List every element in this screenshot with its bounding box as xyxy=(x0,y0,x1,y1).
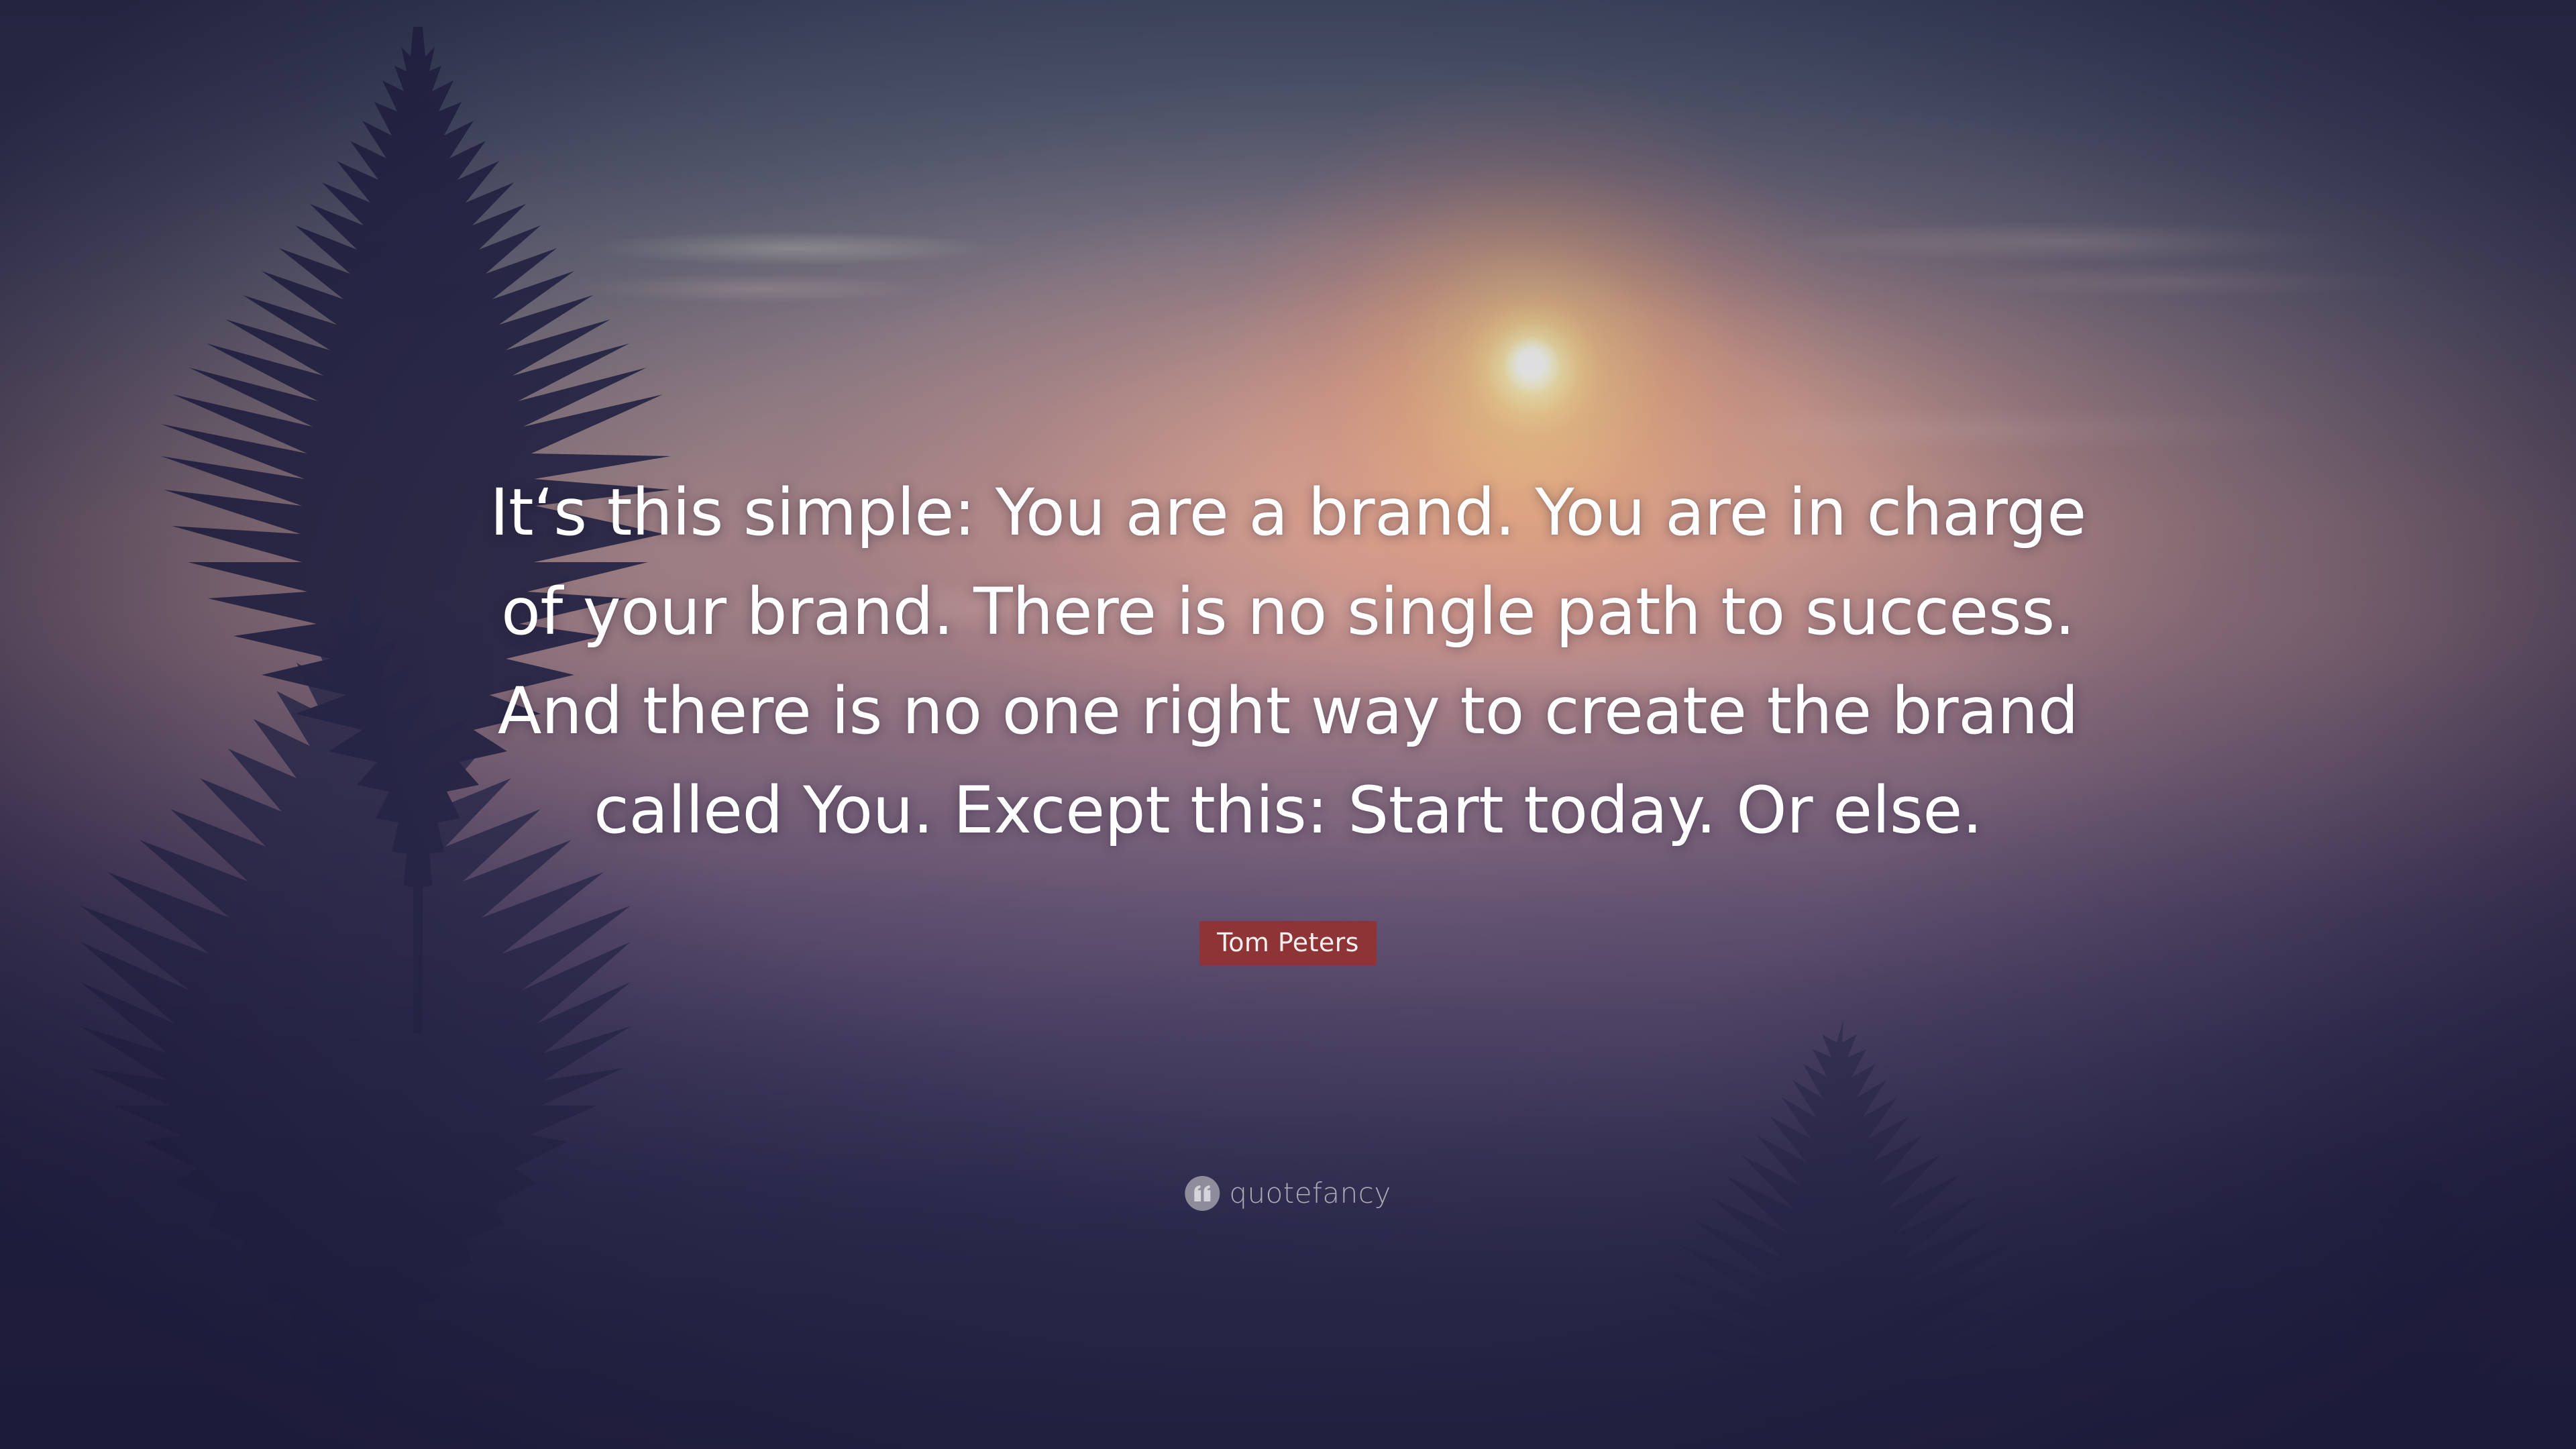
quote-line-3: And there is no one right way to create … xyxy=(241,661,2334,761)
quotefancy-logo-badge xyxy=(1185,1176,1220,1211)
quote-line-2: of your brand. There is no single path t… xyxy=(241,562,2334,661)
conifer-tree-right-far-icon xyxy=(2281,1167,2563,1449)
quotefancy-watermark[interactable]: quotefancy xyxy=(1185,1176,1391,1211)
author-badge[interactable]: Tom Peters xyxy=(1199,921,1377,965)
quotefancy-wordmark: quotefancy xyxy=(1229,1178,1391,1209)
quote-text-block: It‘s this simple: You are a brand. You a… xyxy=(0,463,2576,860)
author-name: Tom Peters xyxy=(1217,928,1359,957)
double-quote-icon xyxy=(1193,1185,1212,1201)
quote-line-1: It‘s this simple: You are a brand. You a… xyxy=(241,463,2334,562)
conifer-tree-right-icon xyxy=(1664,1020,2039,1449)
quote-line-4: called You. Except this: Start today. Or… xyxy=(241,761,2334,860)
wallpaper-canvas: It‘s this simple: You are a brand. You a… xyxy=(0,0,2576,1449)
